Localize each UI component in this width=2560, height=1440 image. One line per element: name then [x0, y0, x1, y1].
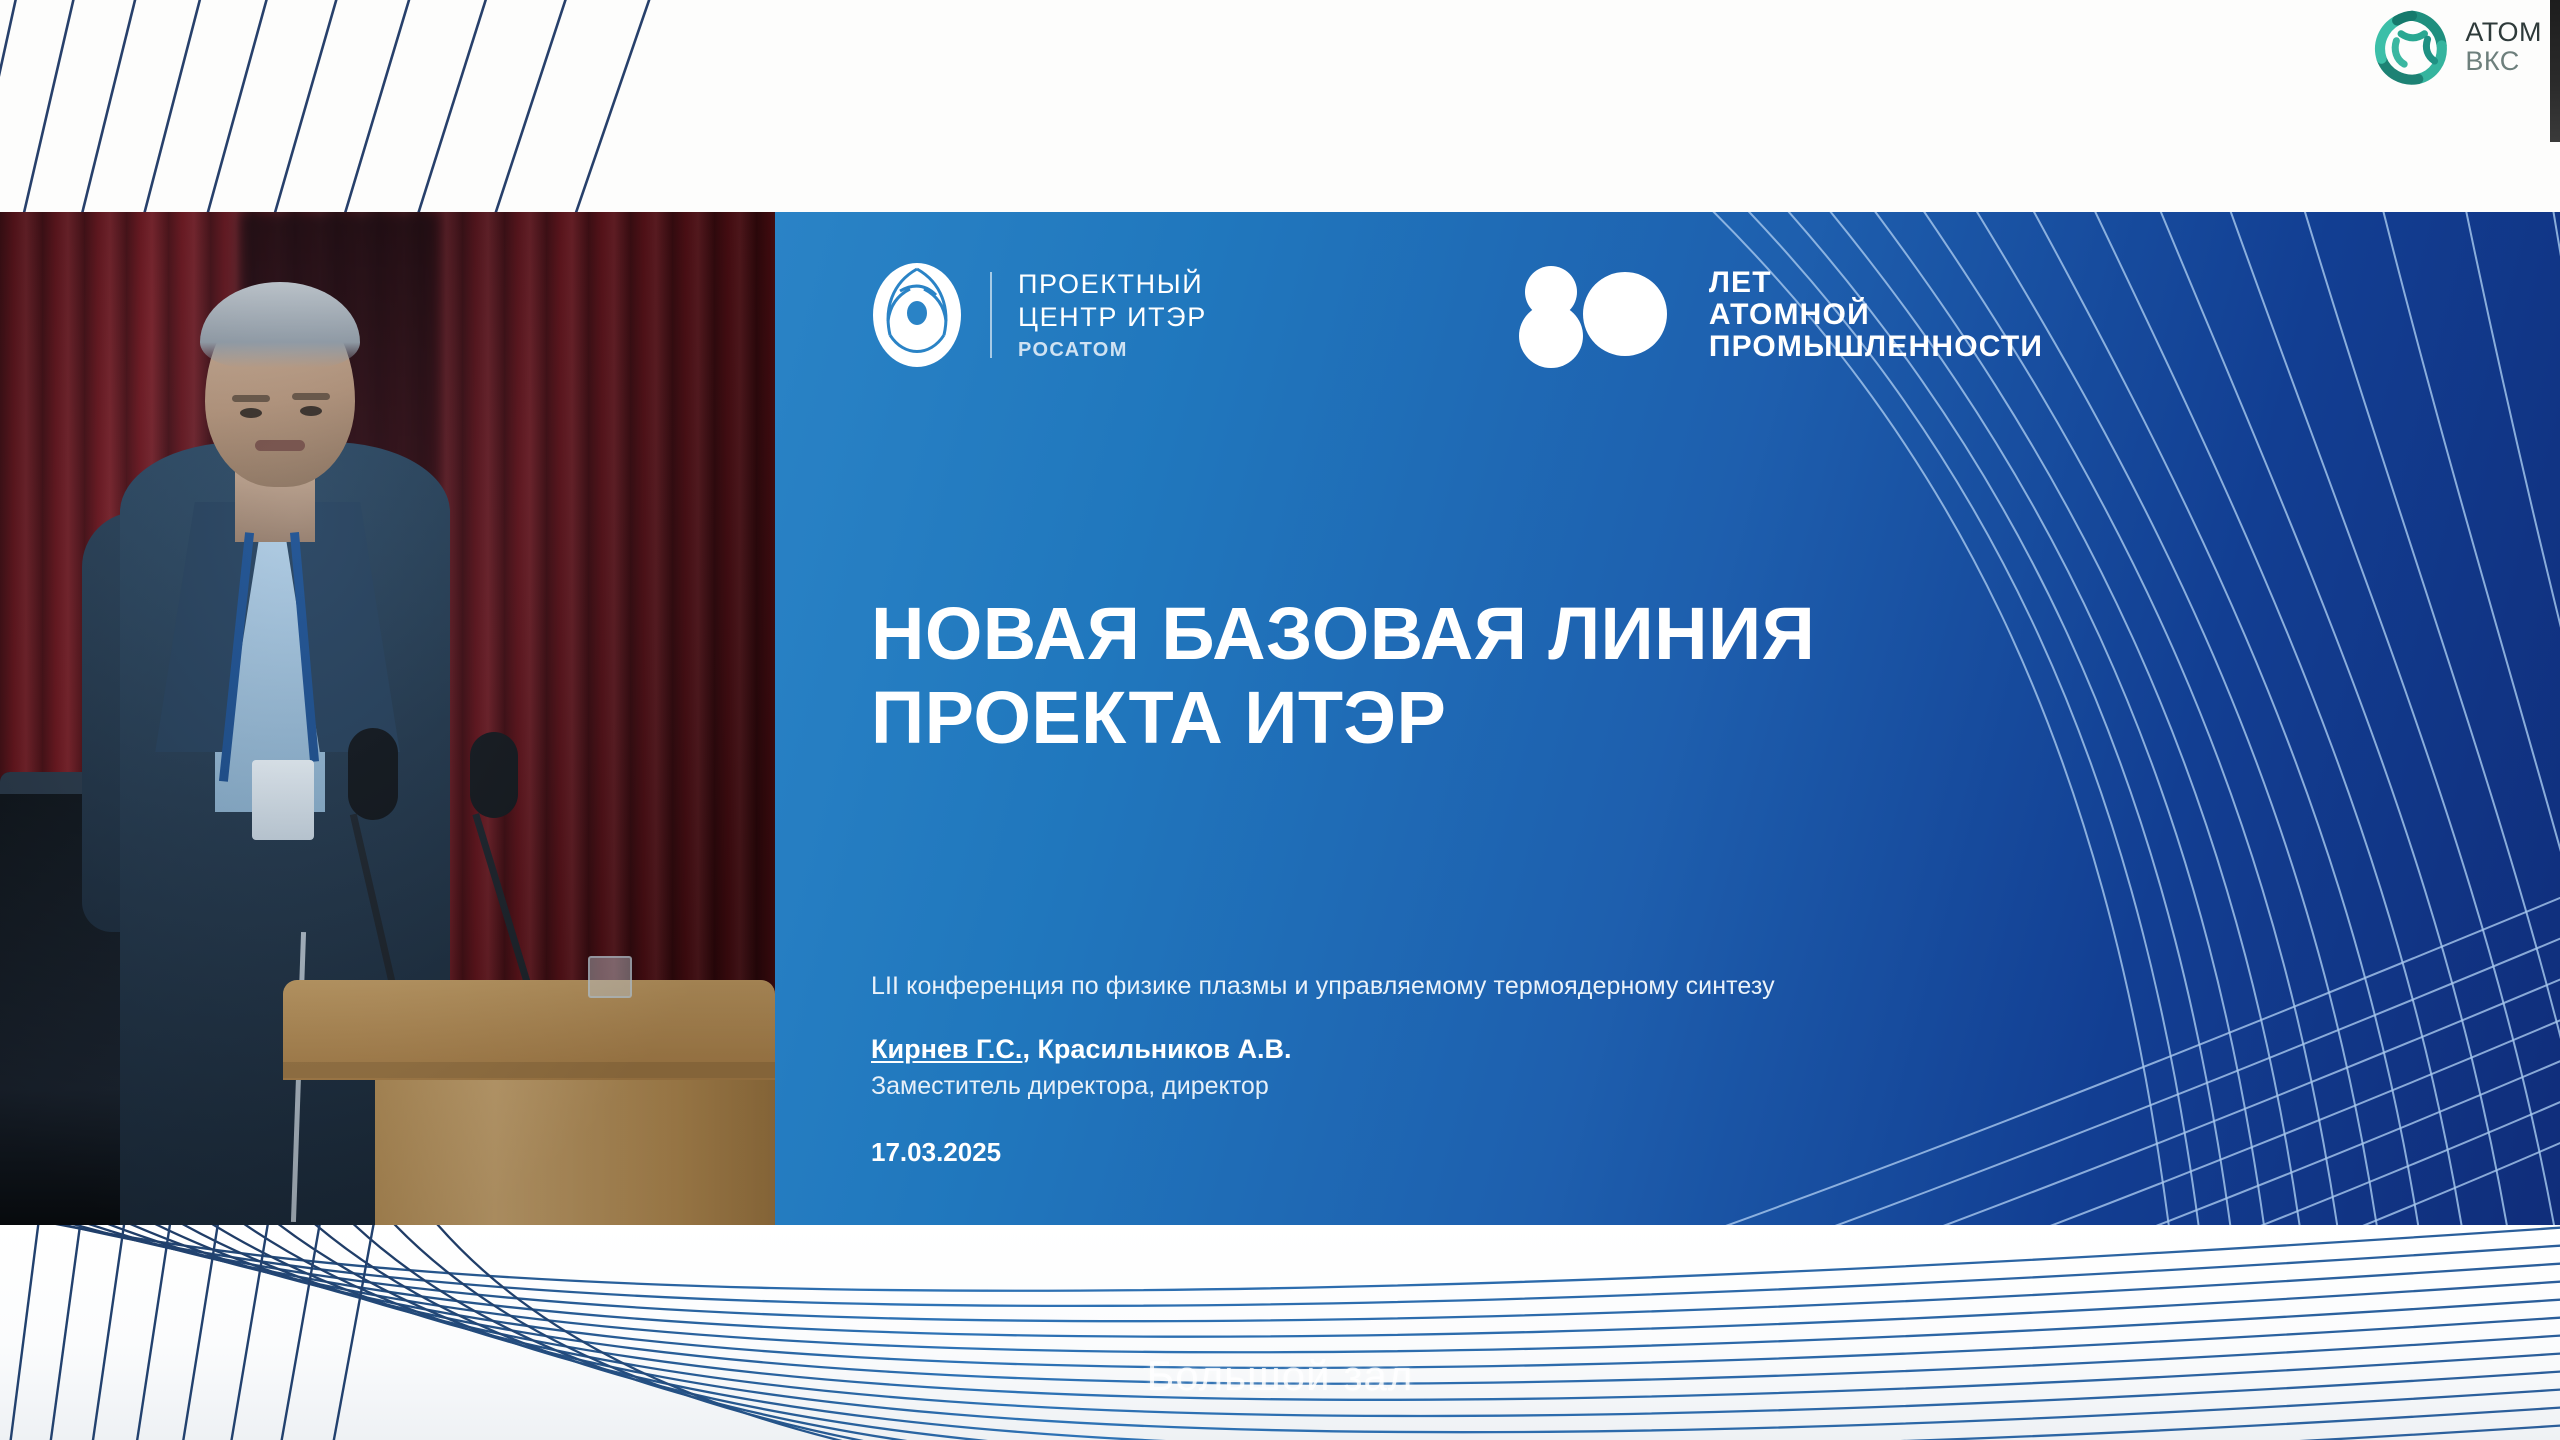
slide-title: НОВАЯ БАЗОВАЯ ЛИНИЯ ПРОЕКТА ИТЭР — [871, 592, 2051, 759]
authors-line: Кирнев Г.С., Красильников А.В. — [871, 1034, 1291, 1065]
anniversary-80-logo: ЛЕТ АТОМНОЙ ПРОМЫШЛЕННОСТИ — [1507, 260, 2043, 370]
authors-roles: Заместитель директора, директор — [871, 1072, 1269, 1101]
app-logo-line2: ВКС — [2465, 47, 2542, 76]
anniversary-80-numeral-icon — [1507, 260, 1687, 370]
org-logo-line2: ЦЕНТР ИТЭР — [1018, 302, 1207, 332]
slide-title-line1: НОВАЯ БАЗОВАЯ ЛИНИЯ — [871, 592, 1815, 675]
slide-title-block: НОВАЯ БАЗОВАЯ ЛИНИЯ ПРОЕКТА ИТЭР — [871, 592, 2051, 759]
top-decor-band — [0, 0, 2560, 212]
author-separator: , — [1022, 1034, 1037, 1064]
top-diagonal-lines-pattern — [0, 0, 900, 212]
org-logo-line3: РОСАТОМ — [1018, 339, 1207, 361]
rosatom-iter-center-logo-text: ПРОЕКТНЫЙ ЦЕНТР ИТЭР РОСАТОМ — [1018, 269, 1207, 361]
anniversary-line3: ПРОМЫШЛЕННОСТИ — [1709, 331, 2043, 363]
speaker-video-tile[interactable] — [0, 212, 775, 1225]
bottom-fan-lines-pattern — [0, 1225, 2560, 1440]
presentation-slide[interactable]: ПРОЕКТНЫЙ ЦЕНТР ИТЭР РОСАТОМ ЛЕТ АТОМНОЙ — [775, 212, 2560, 1225]
anniversary-line2: АТОМНОЙ — [1709, 299, 2043, 331]
app-logo[interactable]: АТОМ ВКС — [2373, 8, 2542, 86]
atom-swirl-icon — [2373, 8, 2451, 86]
author-secondary: Красильников А.В. — [1037, 1034, 1291, 1064]
rosatom-atom-icon — [870, 261, 964, 369]
content-stage: ПРОЕКТНЫЙ ЦЕНТР ИТЭР РОСАТОМ ЛЕТ АТОМНОЙ — [0, 212, 2560, 1225]
video-vignette — [0, 212, 775, 1225]
screen-root: АТОМ ВКС — [0, 0, 2560, 1440]
app-logo-line1: АТОМ — [2465, 18, 2542, 47]
anniversary-80-text: ЛЕТ АТОМНОЙ ПРОМЫШЛЕННОСТИ — [1709, 267, 2043, 362]
app-logo-text: АТОМ ВКС — [2465, 18, 2542, 76]
slide-logo-row: ПРОЕКТНЫЙ ЦЕНТР ИТЭР РОСАТОМ ЛЕТ АТОМНОЙ — [870, 260, 2043, 370]
logo-divider — [990, 272, 992, 358]
window-right-edge-strip — [2550, 0, 2560, 142]
slide-title-line2: ПРОЕКТА ИТЭР — [871, 676, 1446, 759]
org-logo-line1: ПРОЕКТНЫЙ — [1018, 269, 1207, 299]
slide-swirl-pattern-bottom — [1295, 785, 2560, 1225]
bottom-decor-band — [0, 1225, 2560, 1440]
room-name-overlay: Большой зал — [0, 1352, 2560, 1400]
author-primary: Кирнев Г.С. — [871, 1034, 1022, 1064]
anniversary-line1: ЛЕТ — [1709, 267, 2043, 299]
conference-name: LII конференция по физике плазмы и управ… — [871, 972, 1775, 1001]
rosatom-iter-center-logo: ПРОЕКТНЫЙ ЦЕНТР ИТЭР РОСАТОМ — [870, 261, 1207, 369]
presentation-date: 17.03.2025 — [871, 1137, 1001, 1168]
